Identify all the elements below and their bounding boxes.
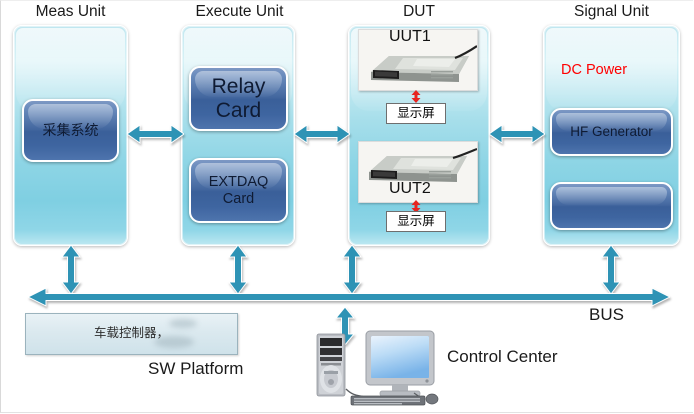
- card-hf-generator-label: HF Generator: [570, 124, 653, 139]
- card-signal-unit-blank[interactable]: [550, 182, 673, 230]
- sw-platform-box-text: 车载控制器，: [26, 322, 237, 341]
- card-extdaq-card-label: EXTDAQ Card: [209, 174, 269, 206]
- red-double-arrow-uut1: [410, 90, 422, 103]
- control-center-computer[interactable]: [310, 327, 440, 409]
- card-hf-generator[interactable]: HF Generator: [550, 108, 673, 156]
- card-acquisition-system[interactable]: 采集系统: [22, 99, 119, 162]
- chip-display-2[interactable]: 显示屏: [386, 211, 446, 232]
- connector-dut-to-signal: [489, 123, 545, 145]
- control-center-caption: Control Center: [447, 347, 558, 367]
- card-relay-card-line2: Card: [216, 99, 262, 122]
- connector-meas-to-execute: [127, 123, 184, 145]
- card-acquisition-system-label: 采集系统: [43, 123, 99, 139]
- chip-display-1[interactable]: 显示屏: [386, 103, 446, 124]
- mouse-icon: [426, 394, 438, 404]
- sw-platform-box[interactable]: 车载控制器，: [25, 313, 238, 355]
- card-relay-card-label: Relay Card: [212, 75, 266, 122]
- card-extdaq-card[interactable]: EXTDAQ Card: [189, 158, 288, 223]
- label-dc-power: DC Power: [561, 62, 627, 78]
- sw-platform-caption: SW Platform: [148, 359, 243, 379]
- bus-label: BUS: [589, 305, 624, 325]
- column-title-execute-unit: Execute Unit: [177, 3, 302, 21]
- uut1-label: UUT1: [389, 28, 431, 46]
- connector-execute-to-dut: [294, 123, 350, 145]
- column-title-dut: DUT: [348, 3, 490, 21]
- card-relay-card-line1: Relay: [212, 75, 266, 98]
- card-extdaq-card-line1: EXTDAQ: [209, 174, 269, 190]
- uut2-label: UUT2: [389, 180, 431, 198]
- system-architecture-diagram: Meas Unit Execute Unit DUT Signal Unit 采…: [0, 0, 694, 414]
- bus-line[interactable]: [28, 287, 670, 307]
- column-title-meas-unit: Meas Unit: [13, 3, 128, 21]
- column-title-signal-unit: Signal Unit: [543, 3, 680, 21]
- card-relay-card[interactable]: Relay Card: [189, 66, 288, 131]
- card-extdaq-card-line2: Card: [223, 191, 254, 207]
